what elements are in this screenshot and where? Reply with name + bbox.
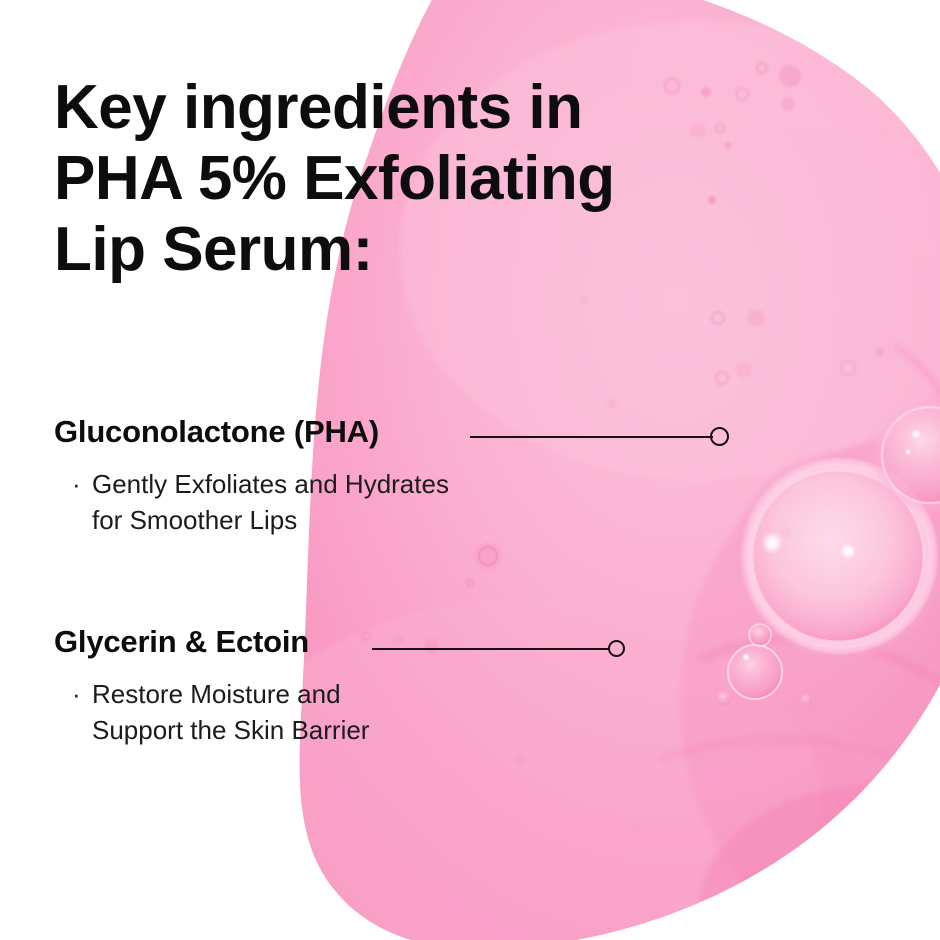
bubble-highlight-right xyxy=(840,543,856,559)
ingredient-name: Gluconolactone (PHA) xyxy=(54,412,449,452)
ingredient-callout-gluconolactone: Gluconolactone (PHA) · Gently Exfoliates… xyxy=(54,412,449,538)
bullet-dot-icon: · xyxy=(72,466,92,538)
leader-endpoint-circle-glycerin-ectoin xyxy=(608,640,625,657)
ingredient-benefit-text: Restore Moisture and Support the Skin Ba… xyxy=(92,676,369,748)
bubble-highlight-left xyxy=(761,532,783,554)
ingredient-benefit-text: Gently Exfoliates and Hydrates for Smoot… xyxy=(92,466,449,538)
leader-endpoint-circle-gluconolactone xyxy=(710,427,729,446)
ingredient-callout-glycerin-ectoin: Glycerin & Ectoin · Restore Moisture and… xyxy=(54,622,369,748)
page-title: Key ingredients in PHA 5% Exfoliating Li… xyxy=(54,72,674,285)
leader-line-glycerin-ectoin xyxy=(372,648,610,650)
ingredient-name: Glycerin & Ectoin xyxy=(54,622,369,662)
bullet-dot-icon: · xyxy=(72,676,92,748)
ingredient-benefit-row: · Gently Exfoliates and Hydrates for Smo… xyxy=(72,466,449,538)
product-ingredient-infographic: Key ingredients in PHA 5% Exfoliating Li… xyxy=(0,0,940,940)
leader-line-gluconolactone xyxy=(470,436,713,438)
ingredient-benefit-row: · Restore Moisture and Support the Skin … xyxy=(72,676,369,748)
